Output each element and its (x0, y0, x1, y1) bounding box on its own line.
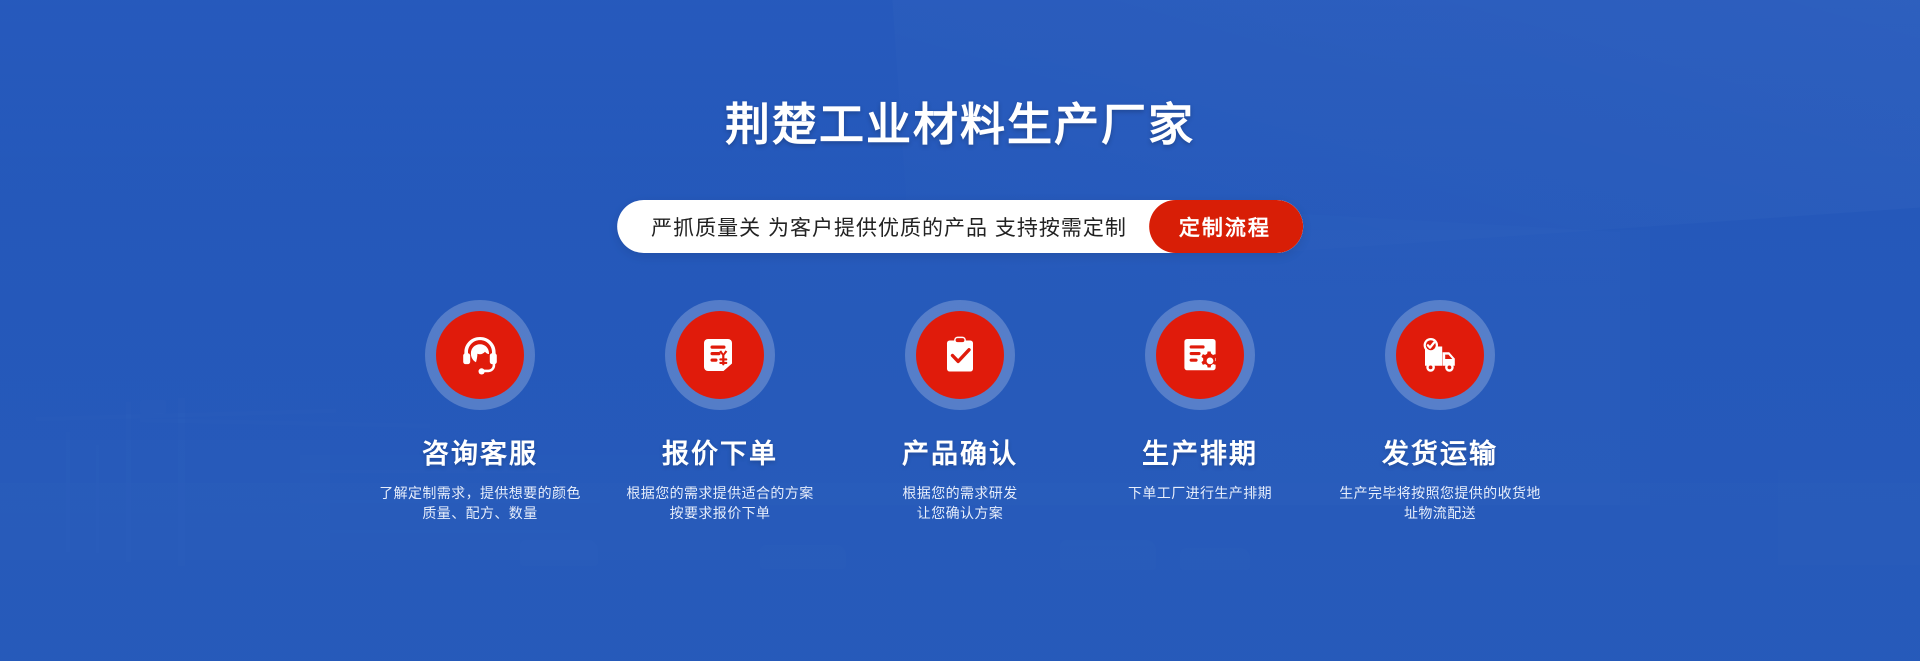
step-icon-badge (916, 311, 1004, 399)
promo-banner: 荆楚工业材料生产厂家 严抓质量关 为客户提供优质的产品 支持按需定制 定制流程 (0, 0, 1920, 661)
step-icon-badge (676, 311, 764, 399)
step-description-line: 质量、配方、数量 (360, 503, 600, 523)
step-icon-badge (1156, 311, 1244, 399)
step-description-line: 址物流配送 (1320, 503, 1560, 523)
clipboard-check-icon (937, 332, 983, 378)
step-description-line: 根据您的需求研发 (840, 483, 1080, 503)
step-description-line: 按要求报价下单 (600, 503, 840, 523)
custom-process-button[interactable]: 定制流程 (1149, 200, 1303, 253)
step-title: 产品确认 (840, 432, 1080, 471)
subtitle-pill: 严抓质量关 为客户提供优质的产品 支持按需定制 定制流程 (617, 200, 1303, 253)
step-description-line: 生产完毕将按照您提供的收货地 (1320, 483, 1560, 503)
step-icon-badge (1396, 311, 1484, 399)
step-description-line: 让您确认方案 (840, 503, 1080, 523)
process-step-confirm[interactable]: 产品确认 根据您的需求研发 让您确认方案 (840, 300, 1080, 523)
invoice-yuan-icon (697, 332, 743, 378)
step-title: 发货运输 (1320, 432, 1560, 471)
step-description-line: 了解定制需求，提供想要的颜色 (360, 483, 600, 503)
banner-content: 荆楚工业材料生产厂家 严抓质量关 为客户提供优质的产品 支持按需定制 定制流程 (0, 0, 1920, 661)
step-description: 生产完毕将按照您提供的收货地 址物流配送 (1320, 483, 1560, 523)
headset-support-icon (456, 331, 504, 379)
subtitle-text: 严抓质量关 为客户提供优质的产品 支持按需定制 (617, 212, 1149, 242)
process-step-quote[interactable]: 报价下单 根据您的需求提供适合的方案 按要求报价下单 (600, 300, 840, 523)
step-description: 了解定制需求，提供想要的颜色 质量、配方、数量 (360, 483, 600, 523)
step-description: 根据您的需求提供适合的方案 按要求报价下单 (600, 483, 840, 523)
step-description: 根据您的需求研发 让您确认方案 (840, 483, 1080, 523)
step-description-line: 根据您的需求提供适合的方案 (600, 483, 840, 503)
process-step-shipping[interactable]: 发货运输 生产完毕将按照您提供的收货地 址物流配送 (1320, 300, 1560, 523)
step-icon-badge (436, 311, 524, 399)
document-gear-icon (1177, 332, 1223, 378)
step-ring (425, 300, 535, 410)
process-step-consult[interactable]: 咨询客服 了解定制需求，提供想要的颜色 质量、配方、数量 (360, 300, 600, 523)
delivery-truck-check-icon (1416, 332, 1464, 378)
step-ring (1385, 300, 1495, 410)
process-steps: 咨询客服 了解定制需求，提供想要的颜色 质量、配方、数量 (360, 300, 1560, 523)
banner-headline: 荆楚工业材料生产厂家 (0, 88, 1920, 153)
process-step-schedule[interactable]: 生产排期 下单工厂进行生产排期 (1080, 300, 1320, 523)
step-ring (1145, 300, 1255, 410)
step-title: 报价下单 (600, 432, 840, 471)
step-title: 咨询客服 (360, 432, 600, 471)
step-title: 生产排期 (1080, 432, 1320, 471)
step-ring (905, 300, 1015, 410)
step-ring (665, 300, 775, 410)
step-description-line: 下单工厂进行生产排期 (1080, 483, 1320, 503)
step-description: 下单工厂进行生产排期 (1080, 483, 1320, 503)
